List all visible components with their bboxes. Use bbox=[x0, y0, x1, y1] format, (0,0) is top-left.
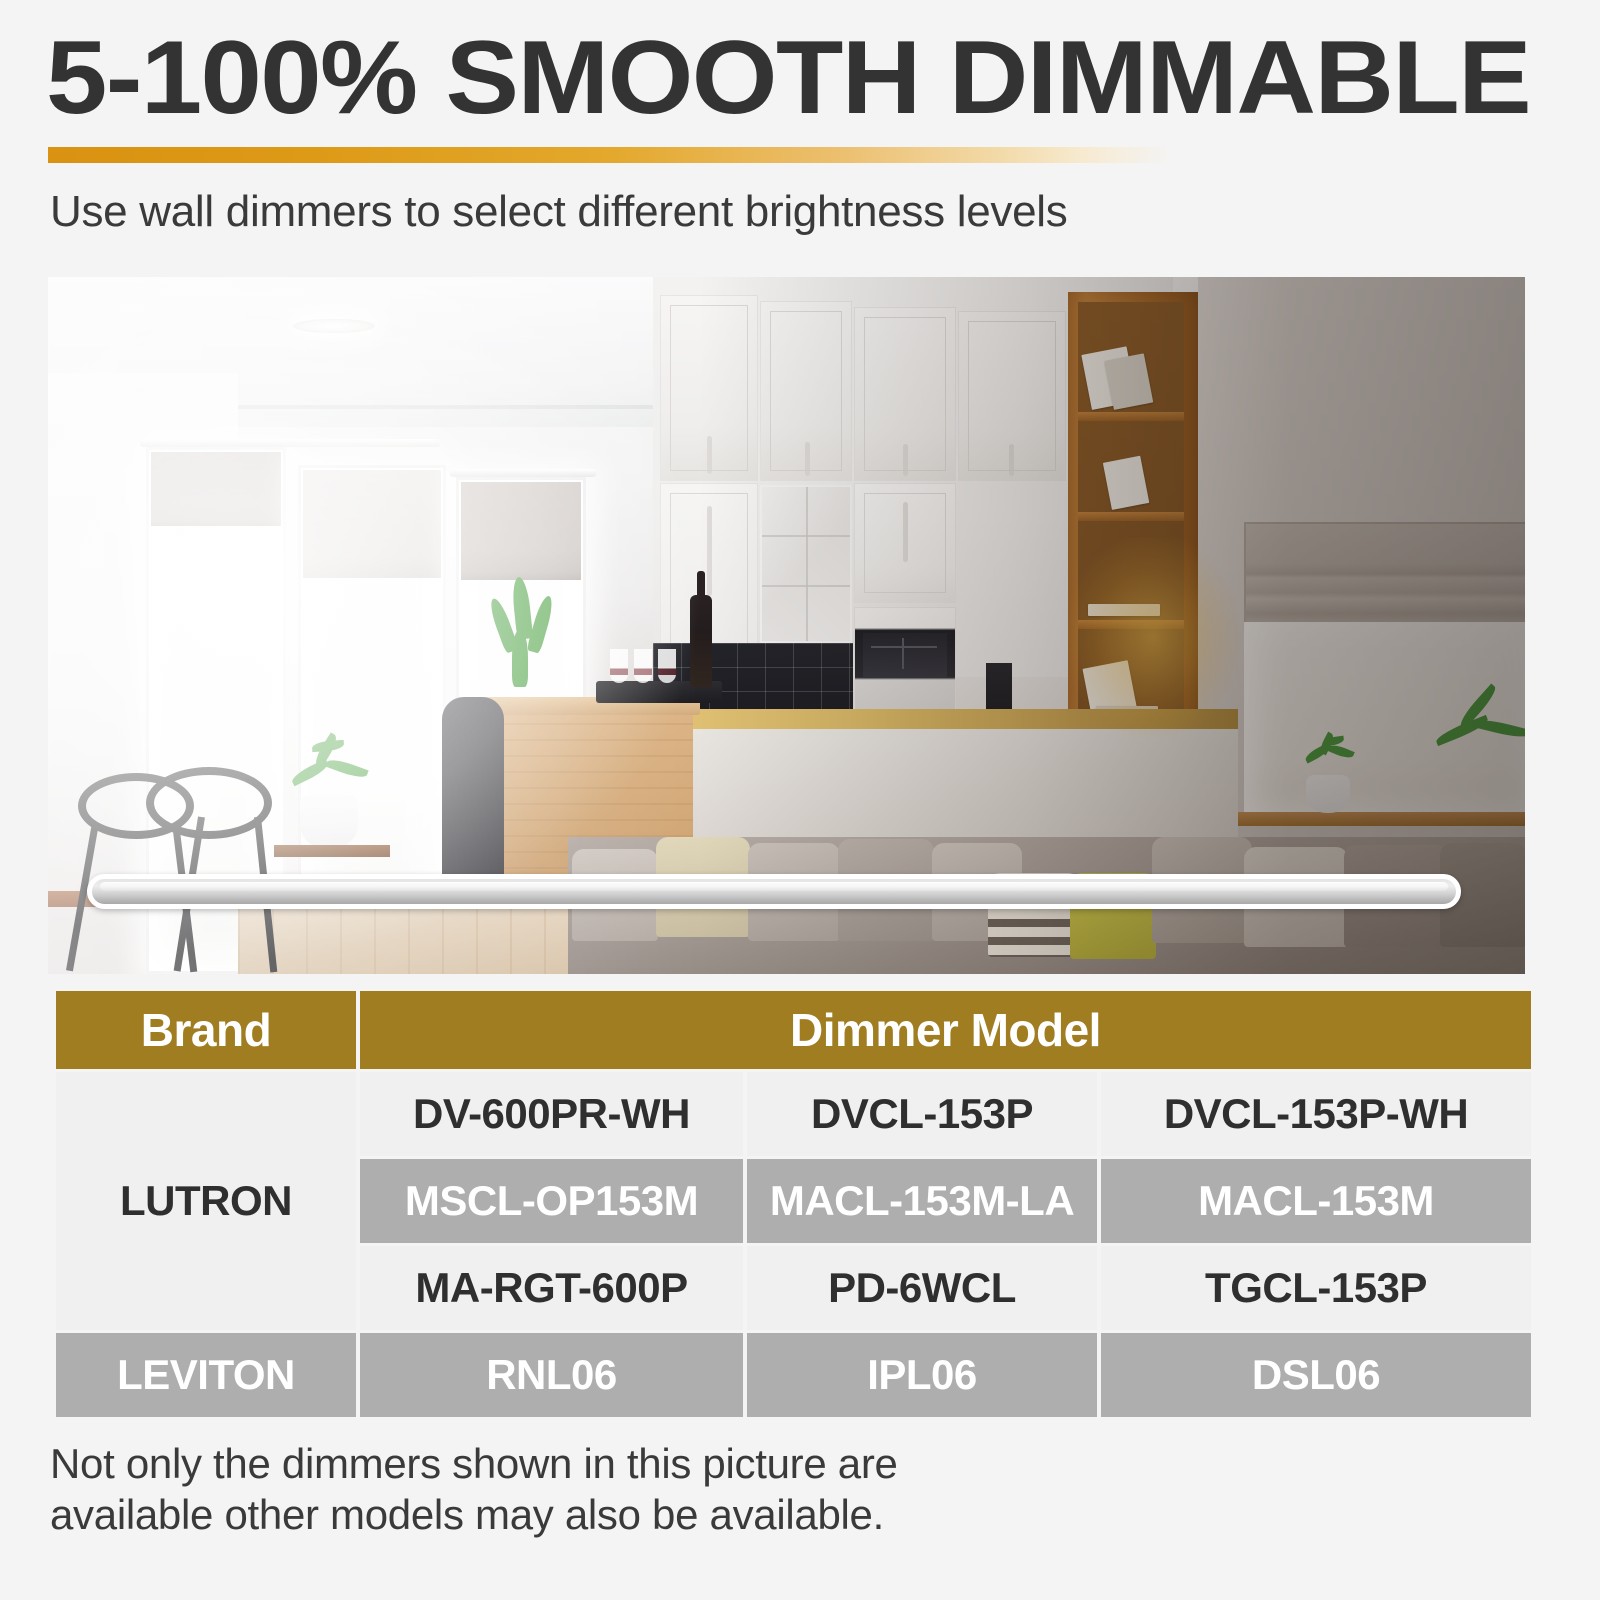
upper-cabinet bbox=[854, 483, 956, 603]
footer-note-line-1: Not only the dimmers shown in this pictu… bbox=[50, 1438, 1150, 1489]
header-brand: Brand bbox=[56, 991, 356, 1069]
model-cell: MA-RGT-600P bbox=[360, 1246, 743, 1330]
infographic-page: 5-100% SMOOTH DIMMABLE Use wall dimmers … bbox=[0, 0, 1600, 1600]
page-subtitle: Use wall dimmers to select different bri… bbox=[50, 186, 1067, 239]
table-row: LEVITON RNL06 IPL06 DSL06 bbox=[56, 1333, 1531, 1417]
brand-lutron: LUTRON bbox=[56, 1072, 356, 1330]
plant-pot bbox=[300, 795, 358, 849]
book bbox=[1104, 353, 1153, 410]
window-sill bbox=[1234, 812, 1525, 826]
header-dimmer-model: Dimmer Model bbox=[360, 991, 1531, 1069]
model-cell: DVCL-153P-WH bbox=[1101, 1072, 1531, 1156]
counter-plant bbox=[488, 577, 578, 705]
wine-bottle bbox=[690, 595, 712, 687]
wine-glass bbox=[634, 649, 652, 683]
plant-shelf bbox=[274, 845, 390, 857]
footer-note-line-2: available other models may also be avail… bbox=[50, 1489, 1150, 1540]
upper-cabinet bbox=[760, 301, 852, 481]
dining-chair bbox=[146, 767, 272, 839]
floor-plant bbox=[284, 739, 380, 801]
tall-plant bbox=[1434, 689, 1525, 781]
wine-glass bbox=[658, 649, 676, 683]
curtain-rail bbox=[450, 469, 596, 477]
model-cell: PD-6WCL bbox=[747, 1246, 1097, 1330]
table-row: LUTRON DV-600PR-WH DVCL-153P DVCL-153P-W… bbox=[56, 1072, 1531, 1156]
brand-leviton: LEVITON bbox=[56, 1333, 356, 1417]
accent-divider bbox=[48, 147, 1526, 163]
model-cell: MACL-153M-LA bbox=[747, 1159, 1097, 1243]
page-title: 5-100% SMOOTH DIMMABLE bbox=[46, 22, 1600, 134]
led-light-strip bbox=[87, 874, 1461, 909]
model-cell: DSL06 bbox=[1101, 1333, 1531, 1417]
model-cell: MSCL-OP153M bbox=[360, 1159, 743, 1243]
model-cell: DVCL-153P bbox=[747, 1072, 1097, 1156]
upper-cabinet bbox=[958, 311, 1066, 481]
roman-blind bbox=[1244, 522, 1525, 630]
recessed-light-icon bbox=[293, 319, 375, 333]
glass-cabinet bbox=[760, 485, 852, 643]
upper-cabinet bbox=[660, 295, 758, 481]
model-cell: TGCL-153P bbox=[1101, 1246, 1531, 1330]
model-cell: RNL06 bbox=[360, 1333, 743, 1417]
upper-cabinet bbox=[854, 307, 956, 481]
model-cell: MACL-153M bbox=[1101, 1159, 1531, 1243]
wine-glass bbox=[610, 649, 628, 683]
model-cell: DV-600PR-WH bbox=[360, 1072, 743, 1156]
curtain-rail bbox=[140, 439, 440, 447]
dimmer-compatibility-table: Brand Dimmer Model LUTRON DV-600PR-WH DV… bbox=[52, 988, 1535, 1420]
interior-photo bbox=[48, 277, 1525, 974]
bar-stool bbox=[442, 697, 504, 887]
book bbox=[1088, 604, 1160, 616]
footer-note: Not only the dimmers shown in this pictu… bbox=[50, 1438, 1150, 1540]
book bbox=[1103, 456, 1149, 510]
window-plant bbox=[1298, 733, 1364, 781]
model-cell: IPL06 bbox=[747, 1333, 1097, 1417]
table-header-row: Brand Dimmer Model bbox=[56, 991, 1531, 1069]
